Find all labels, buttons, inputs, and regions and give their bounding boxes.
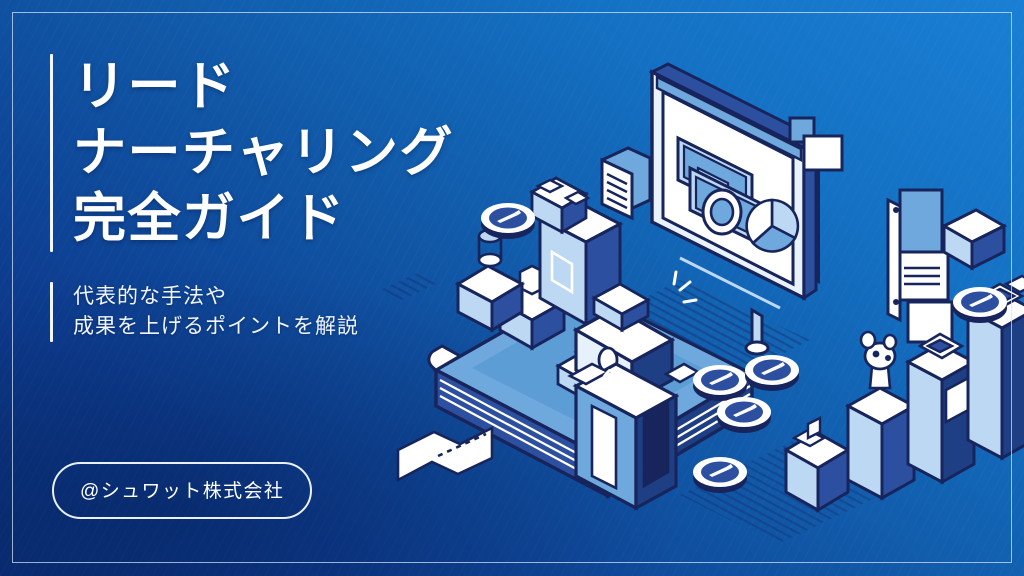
subtitle-accent-bar [50,282,53,342]
slide-title-block: リード ナーチャリング 完全ガイド [50,54,454,252]
title-accent-bar [50,54,53,252]
page-title-line-2: ナーチャリング [73,120,454,186]
mascot-figure [861,332,896,388]
subtitle-line-1: 代表的な手法や [73,282,359,312]
cylinder-pedestal [458,230,522,330]
document-icon [602,148,650,218]
presentation-slide: リード ナーチャリング 完全ガイド 代表的な手法や 成果を上げるポイントを解説 … [0,0,1024,576]
isometric-business-illustration [380,40,1024,560]
subtitle-line-2: 成果を上げるポイントを解説 [73,312,359,342]
slide-subtitle-block: 代表的な手法や 成果を上げるポイントを解説 [50,282,359,342]
page-title-line-3: 完全ガイド [73,186,454,252]
company-badge[interactable]: @シュワット株式会社 [52,462,312,519]
page-title-line-1: リード [73,54,454,120]
receipt-ribbon [398,428,492,480]
